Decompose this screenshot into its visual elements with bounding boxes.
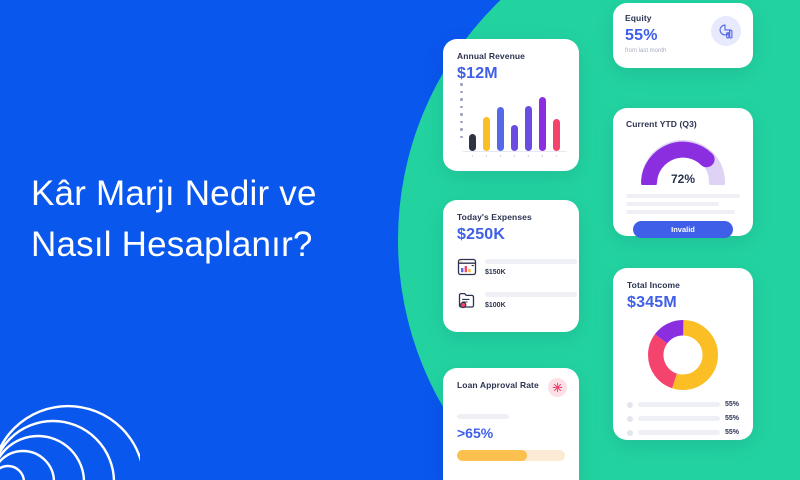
concentric-arcs-icon <box>0 364 140 480</box>
legend-value: 55% <box>725 401 739 408</box>
bar-chart-bars <box>469 83 560 151</box>
card-current-ytd-title: Current YTD (Q3) <box>626 119 740 129</box>
gauge-value: 72% <box>640 172 726 186</box>
expense-amount: $150K <box>485 269 577 276</box>
x-tick-label: 1 <box>469 154 476 158</box>
gear-flower-icon <box>548 378 567 397</box>
x-tick-label: 4 <box>511 154 518 158</box>
card-loan-approval-rate: Loan Approval Rate >65% <box>443 368 579 480</box>
ytd-placeholder-line <box>626 210 735 214</box>
poster-canvas: Kâr Marjı Nedir ve Nasıl Hesaplanır? Ann… <box>0 0 800 480</box>
card-annual-revenue-value: $12M <box>457 65 565 83</box>
gauge-chart: 72% <box>640 137 726 185</box>
ytd-placeholder-line <box>626 202 719 206</box>
invalid-button[interactable]: Invalid <box>633 221 733 238</box>
loan-progress-bar <box>457 450 565 461</box>
card-total-income-value: $345M <box>627 294 739 312</box>
legend-dot-icon <box>627 402 633 408</box>
legend-placeholder-bar <box>638 430 720 435</box>
page-title: Kâr Marjı Nedir ve Nasıl Hesaplanır? <box>31 168 431 270</box>
loan-approval-value: >65% <box>457 425 565 441</box>
legend-row: 55% <box>627 401 739 408</box>
ytd-placeholder-lines <box>626 194 740 214</box>
page-title-line-1: Kâr Marjı Nedir ve <box>31 168 431 219</box>
card-total-income-title: Total Income <box>627 280 739 290</box>
x-tick-label: 3 <box>497 154 504 158</box>
bar-2 <box>497 107 504 151</box>
bar-4 <box>525 106 532 151</box>
x-tick-label: 5 <box>525 154 532 158</box>
donut-legend: 55% 55% 55% <box>627 401 739 436</box>
legend-value: 55% <box>725 429 739 436</box>
card-equity-subtitle: from last month <box>625 48 741 54</box>
card-todays-expenses-value: $250K <box>457 226 565 244</box>
legend-row: 55% <box>627 415 739 422</box>
expense-amount: $100K <box>485 302 577 309</box>
card-total-income: Total Income $345M 55% 55% <box>613 268 753 440</box>
card-annual-revenue-title: Annual Revenue <box>457 51 565 61</box>
pie-bar-chart-icon <box>711 16 741 46</box>
donut-chart <box>647 319 719 391</box>
ytd-placeholder-line <box>626 194 740 198</box>
x-tick-label: 6 <box>539 154 546 158</box>
expense-row: $100K <box>457 290 565 310</box>
bar-chart: 1 2 3 4 5 6 7 <box>459 83 567 159</box>
card-annual-revenue: Annual Revenue $12M 1 2 3 <box>443 39 579 171</box>
card-todays-expenses-title: Today's Expenses <box>457 212 565 222</box>
legend-dot-icon <box>627 416 633 422</box>
bar-chart-x-axis: 1 2 3 4 5 6 7 <box>469 154 560 158</box>
x-tick-label: 2 <box>483 154 490 158</box>
bar-3 <box>511 125 518 151</box>
x-tick-label: 7 <box>553 154 560 158</box>
card-current-ytd: Current YTD (Q3) 72% Invalid <box>613 108 753 236</box>
loan-placeholder-bar <box>457 414 509 419</box>
legend-dot-icon <box>627 430 633 436</box>
legend-placeholder-bar <box>638 416 720 421</box>
expense-placeholder-bar <box>485 292 577 297</box>
bar-0 <box>469 134 476 151</box>
legend-row: 55% <box>627 429 739 436</box>
card-todays-expenses: Today's Expenses $250K $1 <box>443 200 579 332</box>
legend-placeholder-bar <box>638 402 720 407</box>
bar-chart-baseline <box>463 151 567 152</box>
card-equity: Equity 55% from last month <box>613 3 753 68</box>
expense-meta: $150K <box>485 259 577 276</box>
expense-row: $150K <box>457 257 565 277</box>
bar-6 <box>553 119 560 151</box>
bar-1 <box>483 117 490 151</box>
loan-progress-fill <box>457 450 527 461</box>
expense-placeholder-bar <box>485 259 577 264</box>
page-title-line-2: Nasıl Hesaplanır? <box>31 219 431 270</box>
bar-chart-y-axis <box>459 83 465 151</box>
bar-5 <box>539 97 546 151</box>
folder-clock-icon <box>457 290 477 310</box>
window-chart-icon <box>457 257 477 277</box>
expense-meta: $100K <box>485 292 577 309</box>
legend-value: 55% <box>725 415 739 422</box>
